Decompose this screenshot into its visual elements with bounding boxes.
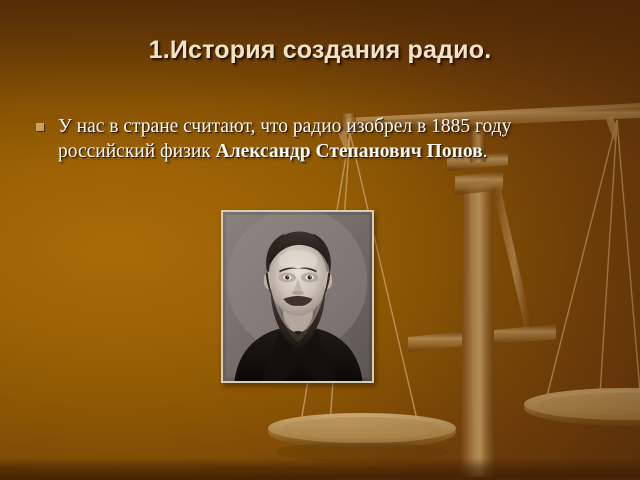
bullet-text: У нас в стране считают, что радио изобре… <box>58 114 606 164</box>
bullet-text-after: . <box>483 141 488 162</box>
presentation-slide: 1.История создания радио. У нас в стране… <box>0 0 640 480</box>
bullet-text-bold: Александр Степанович Попов <box>216 141 483 162</box>
bullet-item: У нас в стране считают, что радио изобре… <box>36 114 606 164</box>
square-bullet-icon <box>36 123 44 131</box>
portrait-photo <box>221 210 374 383</box>
slide-body: У нас в стране считают, что радио изобре… <box>36 114 606 164</box>
slide-title: 1.История создания радио. <box>0 36 640 65</box>
